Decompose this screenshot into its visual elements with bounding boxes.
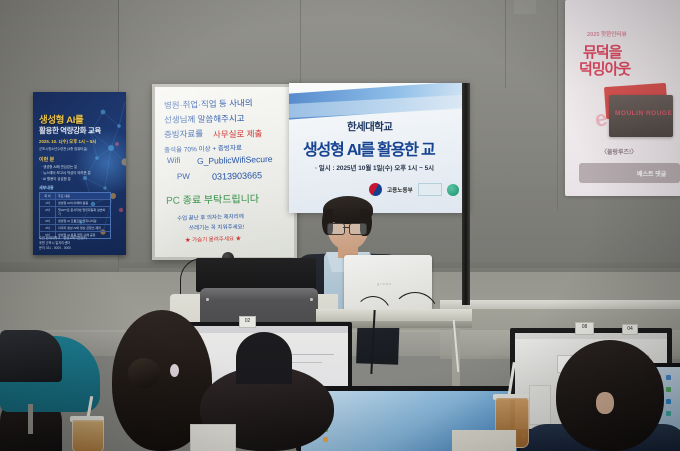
poster-date: 2025. 10. 1(수) 오후 1시 ~ 5시 xyxy=(39,139,121,145)
lectern-monitor xyxy=(196,258,316,292)
cell-session: 4차 xyxy=(40,225,56,231)
screen-divider-pillar xyxy=(462,83,470,305)
chair-stem xyxy=(28,404,33,434)
eyeglasses-bridge xyxy=(343,227,349,228)
desktop-icon[interactable] xyxy=(666,375,671,380)
wall-seam xyxy=(557,0,558,210)
poster-audience-item: · 생성형 AI에 관심있는 분 xyxy=(41,164,77,169)
poster-footer: 주관 한세대학교 · 평생교육지원센터 후원 군포시 일자리센터 문의 031 … xyxy=(39,236,121,251)
poster-subtitle: 활용한 역량강화 교육 xyxy=(39,125,121,136)
slide-logo-row: 고용노동부 xyxy=(369,183,459,196)
col-head-session: 회 차 xyxy=(40,193,56,199)
monitor-tag-02: 02 xyxy=(239,316,256,328)
whiteboard: 병원·취업·직업 등 사내의 선생님께 말씀해주시고 증빙자료를 사무실로 제출… xyxy=(152,84,297,260)
partner-logo-icon xyxy=(418,183,442,196)
eyeglasses-lens-right xyxy=(349,223,367,235)
table-header-row: 회 차 주요 내용 xyxy=(40,193,110,199)
ministry-label: 고용노동부 xyxy=(387,186,413,194)
poster-curriculum-table: 회 차 주요 내용 1차 생성형 AI의 이해와 활용 2차 챗GPT로 문서작… xyxy=(39,192,111,239)
table-row: 3차 생성형 AI 프롬프트 엔지니어링 xyxy=(40,217,110,224)
taegeuk-emblem-icon xyxy=(369,183,382,196)
cell-session: 1차 xyxy=(40,200,56,206)
cell-session: 2차 xyxy=(40,207,56,217)
sidebar-panel xyxy=(529,385,551,425)
poster-title: 생성형 AI를 xyxy=(39,112,121,126)
handout-paper xyxy=(190,424,236,451)
poster-audience-item: · AI 활용이 궁금한 분 xyxy=(41,176,71,181)
right-slide-button-label: 베스트 댓글 xyxy=(637,169,666,178)
desk-papers xyxy=(452,430,516,451)
cell-content: 이미지 생성 AI와 영상 콘텐츠 제작 xyxy=(56,225,110,231)
desktop-icon[interactable] xyxy=(666,387,671,392)
whiteboard-glare xyxy=(155,87,294,257)
wall-seam xyxy=(505,0,506,88)
attendee-ear xyxy=(170,364,179,377)
right-slide-caption: 〈물랑루즈!〉 xyxy=(601,147,637,156)
wall-seam xyxy=(300,0,301,96)
musical-poster-title: MOULIN ROUGE xyxy=(615,110,672,117)
monitor-tag-08: 08 xyxy=(575,322,594,335)
desk-surface xyxy=(316,309,472,321)
cell-session: 3차 xyxy=(40,218,56,224)
attendee-hand xyxy=(596,392,614,414)
poster-curriculum-label: 세부내용 xyxy=(39,185,54,191)
cell-content: 챗GPT로 문서작성 업무자동화 실습하기 xyxy=(56,207,110,217)
right-slide-button: 베스트 댓글 xyxy=(579,163,680,183)
globe-emblem-icon xyxy=(447,184,459,196)
eyeglasses-lens-left xyxy=(327,223,345,235)
slide-title: 생성형 AI를 활용한 교 xyxy=(303,136,435,160)
poster-audience-label: 이런 분 xyxy=(39,156,54,163)
cell-content: 생성형 AI의 이해와 활용 xyxy=(56,200,110,206)
doc-line xyxy=(286,354,334,355)
desktop-icon[interactable] xyxy=(666,411,671,416)
desktop-icon[interactable] xyxy=(323,437,328,442)
laptop-brand-logo: grade xyxy=(377,281,392,286)
attendee-hair-bun xyxy=(128,358,160,388)
lecture-hall-photo: 생성형 AI를 활용한 역량강화 교육 2025. 10. 1(수) 오후 1시… xyxy=(0,0,680,451)
event-poster: 생성형 AI를 활용한 역량강화 교육 2025. 10. 1(수) 오후 1시… xyxy=(33,92,126,255)
attendee-shoulders xyxy=(236,332,292,384)
main-projection-screen: 한세대학교 생성형 AI를 활용한 교 · 일시 : 2025년 10월 1일(… xyxy=(289,83,469,213)
panel-screw xyxy=(310,298,313,301)
monitor-tag-right: 04 xyxy=(622,324,638,335)
poster-audience-item: · 뉴스레터·보고서 작성이 어려운 분 xyxy=(41,170,91,175)
table-row: 1차 생성형 AI의 이해와 활용 xyxy=(40,199,110,206)
right-slide-kicker: 2025 핫한인터뷰 xyxy=(587,30,627,38)
panel-screw xyxy=(206,298,209,301)
poster-footer-line: 문의 031 - 0000 - 0000 xyxy=(39,246,121,251)
desktop-icon[interactable] xyxy=(666,399,671,404)
bag-on-chair xyxy=(0,330,62,382)
wall-ledge xyxy=(440,300,680,309)
right-slide-headline-2: 덕밍아웃 xyxy=(579,58,630,79)
table-row: 2차 챗GPT로 문서작성 업무자동화 실습하기 xyxy=(40,206,110,217)
slide-datetime: · 일시 : 2025년 10월 1일(수) 오후 1시 ~ 5시 xyxy=(315,163,434,172)
poster-place: 군포시청소년수련관 (4층 컴퓨터실) xyxy=(39,146,121,151)
col-head-content: 주요 내용 xyxy=(56,193,110,199)
lectern-highlight xyxy=(200,288,318,300)
right-projection-screen: 2025 핫한인터뷰 뮤덕을 덕밍아웃 e MOULIN ROUGE 〈물랑루즈… xyxy=(565,0,680,196)
cell-content: 생성형 AI 프롬프트 엔지니어링 xyxy=(56,218,110,224)
wall-vent xyxy=(514,0,536,14)
table-row: 4차 이미지 생성 AI와 영상 콘텐츠 제작 xyxy=(40,224,110,231)
iced-coffee-cup-left xyxy=(72,420,104,451)
slide-university-name: 한세대학교 xyxy=(347,119,392,134)
